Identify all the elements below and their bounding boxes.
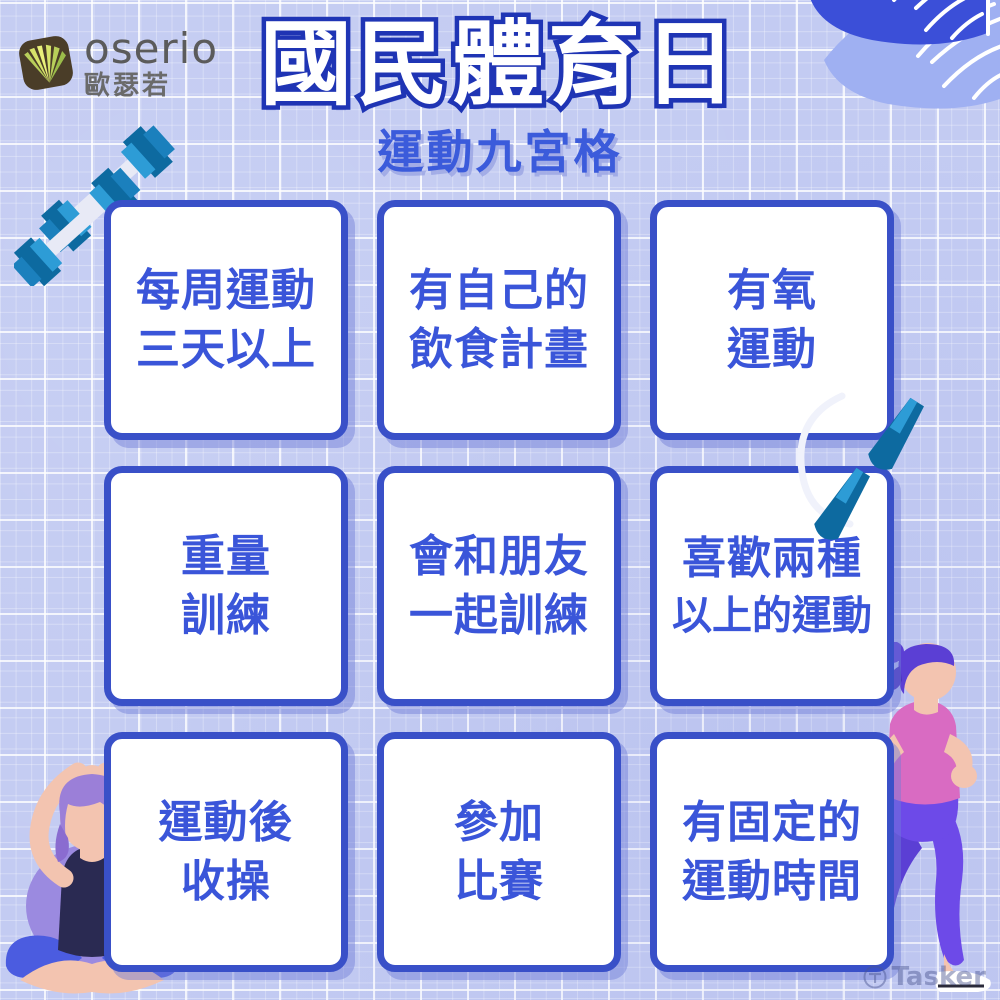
- bingo-cell-6-line-2: 以上的運動: [672, 589, 872, 643]
- bingo-cell-1[interactable]: 每周運動 三天以上: [104, 200, 348, 440]
- page-title: 國民體育日: [260, 18, 740, 112]
- bingo-cell-8-line-1: 參加: [454, 793, 544, 852]
- bingo-cell-2-line-2: 飲食計畫: [409, 320, 589, 379]
- bingo-cell-1-line-2: 三天以上: [136, 320, 316, 379]
- bingo-cell-4-line-2: 訓練: [181, 586, 271, 645]
- poster-canvas: 每周運動 三天以上 有自己的 飲食計畫 有氧 運動 重量 訓練 會和朋友 一起訓…: [0, 0, 1000, 1000]
- bingo-grid: 每周運動 三天以上 有自己的 飲食計畫 有氧 運動 重量 訓練 會和朋友 一起訓…: [104, 200, 894, 972]
- bingo-cell-8[interactable]: 參加 比賽: [377, 732, 621, 972]
- watermark-text: Tasker: [892, 962, 986, 992]
- bingo-cell-6-line-1: 喜歡兩種: [682, 529, 862, 588]
- bingo-cell-4[interactable]: 重量 訓練: [104, 466, 348, 706]
- bingo-cell-5-line-2: 一起訓練: [409, 586, 589, 645]
- title-block: 國民體育日 運動九宮格: [0, 18, 1000, 182]
- bingo-cell-5[interactable]: 會和朋友 一起訓練: [377, 466, 621, 706]
- page-subtitle: 運動九宮格: [0, 116, 1000, 182]
- bingo-cell-2-line-1: 有自己的: [409, 261, 589, 320]
- bingo-cell-4-line-1: 重量: [181, 527, 271, 586]
- bingo-cell-6[interactable]: 喜歡兩種 以上的運動: [650, 466, 894, 706]
- bingo-cell-1-line-1: 每周運動: [136, 261, 316, 320]
- tasker-circle-icon: [863, 965, 887, 989]
- bingo-cell-9-line-2: 運動時間: [682, 852, 862, 911]
- watermark: Tasker: [863, 962, 986, 992]
- bingo-cell-3-line-1: 有氧: [727, 261, 817, 320]
- bingo-cell-3[interactable]: 有氧 運動: [650, 200, 894, 440]
- bingo-cell-7-line-2: 收操: [181, 852, 271, 911]
- bingo-cell-5-line-1: 會和朋友: [409, 527, 589, 586]
- bingo-cell-7-line-1: 運動後: [159, 793, 294, 852]
- bingo-cell-2[interactable]: 有自己的 飲食計畫: [377, 200, 621, 440]
- bingo-cell-8-line-2: 比賽: [454, 852, 544, 911]
- bingo-cell-9-line-1: 有固定的: [682, 793, 862, 852]
- bingo-cell-9[interactable]: 有固定的 運動時間: [650, 732, 894, 972]
- bingo-cell-3-line-2: 運動: [727, 320, 817, 379]
- bingo-cell-7[interactable]: 運動後 收操: [104, 732, 348, 972]
